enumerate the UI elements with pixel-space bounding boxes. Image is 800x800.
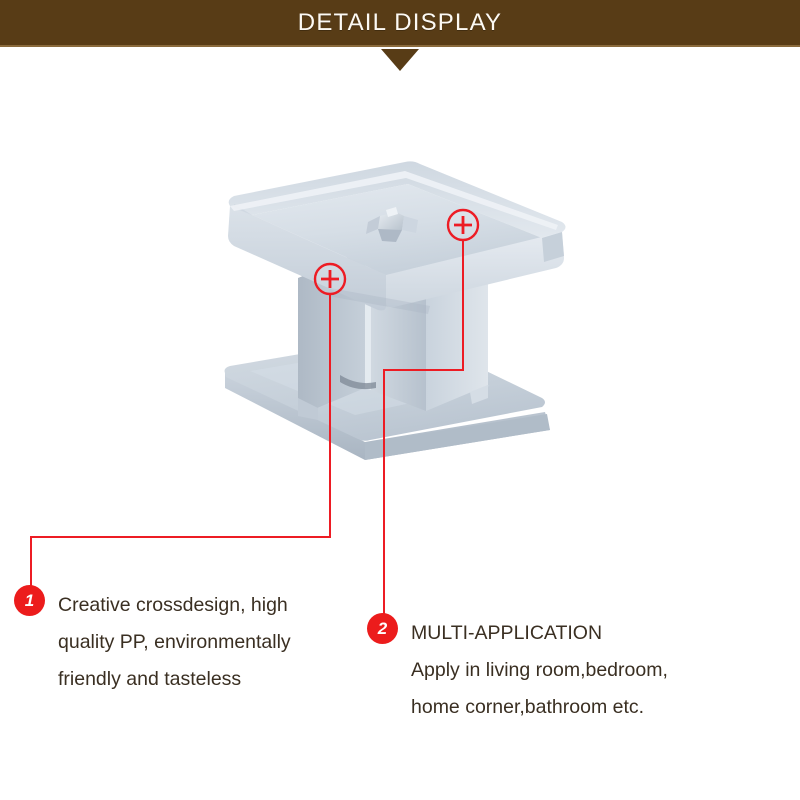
callout-text-1: Creative crossdesign, high quality PP, e… [58, 585, 344, 698]
callout-text-line: MULTI-APPLICATION [411, 615, 707, 652]
callout-block-1: 1 Creative crossdesign, high quality PP,… [14, 585, 344, 698]
callout-text-line: home corner,bathroom etc. [411, 689, 707, 726]
callout-badge-1: 1 [14, 585, 45, 616]
product-image [190, 130, 610, 510]
callout-text-line: quality PP, environmentally [58, 624, 344, 661]
callout-badge-2: 2 [367, 613, 398, 644]
callout-text-line: Creative crossdesign, high [58, 587, 344, 624]
page-title: DETAIL DISPLAY [0, 0, 800, 47]
header-banner: DETAIL DISPLAY [0, 0, 800, 47]
detail-display-page: DETAIL DISPLAY [0, 0, 800, 800]
callout-block-2: 2 MULTI-APPLICATION Apply in living room… [367, 613, 707, 726]
callout-text-line: friendly and tasteless [58, 661, 344, 698]
callout-text-2: MULTI-APPLICATION Apply in living room,b… [411, 613, 707, 726]
triangle-down-icon [381, 49, 419, 71]
callout-text-line: Apply in living room,bedroom, [411, 652, 707, 689]
